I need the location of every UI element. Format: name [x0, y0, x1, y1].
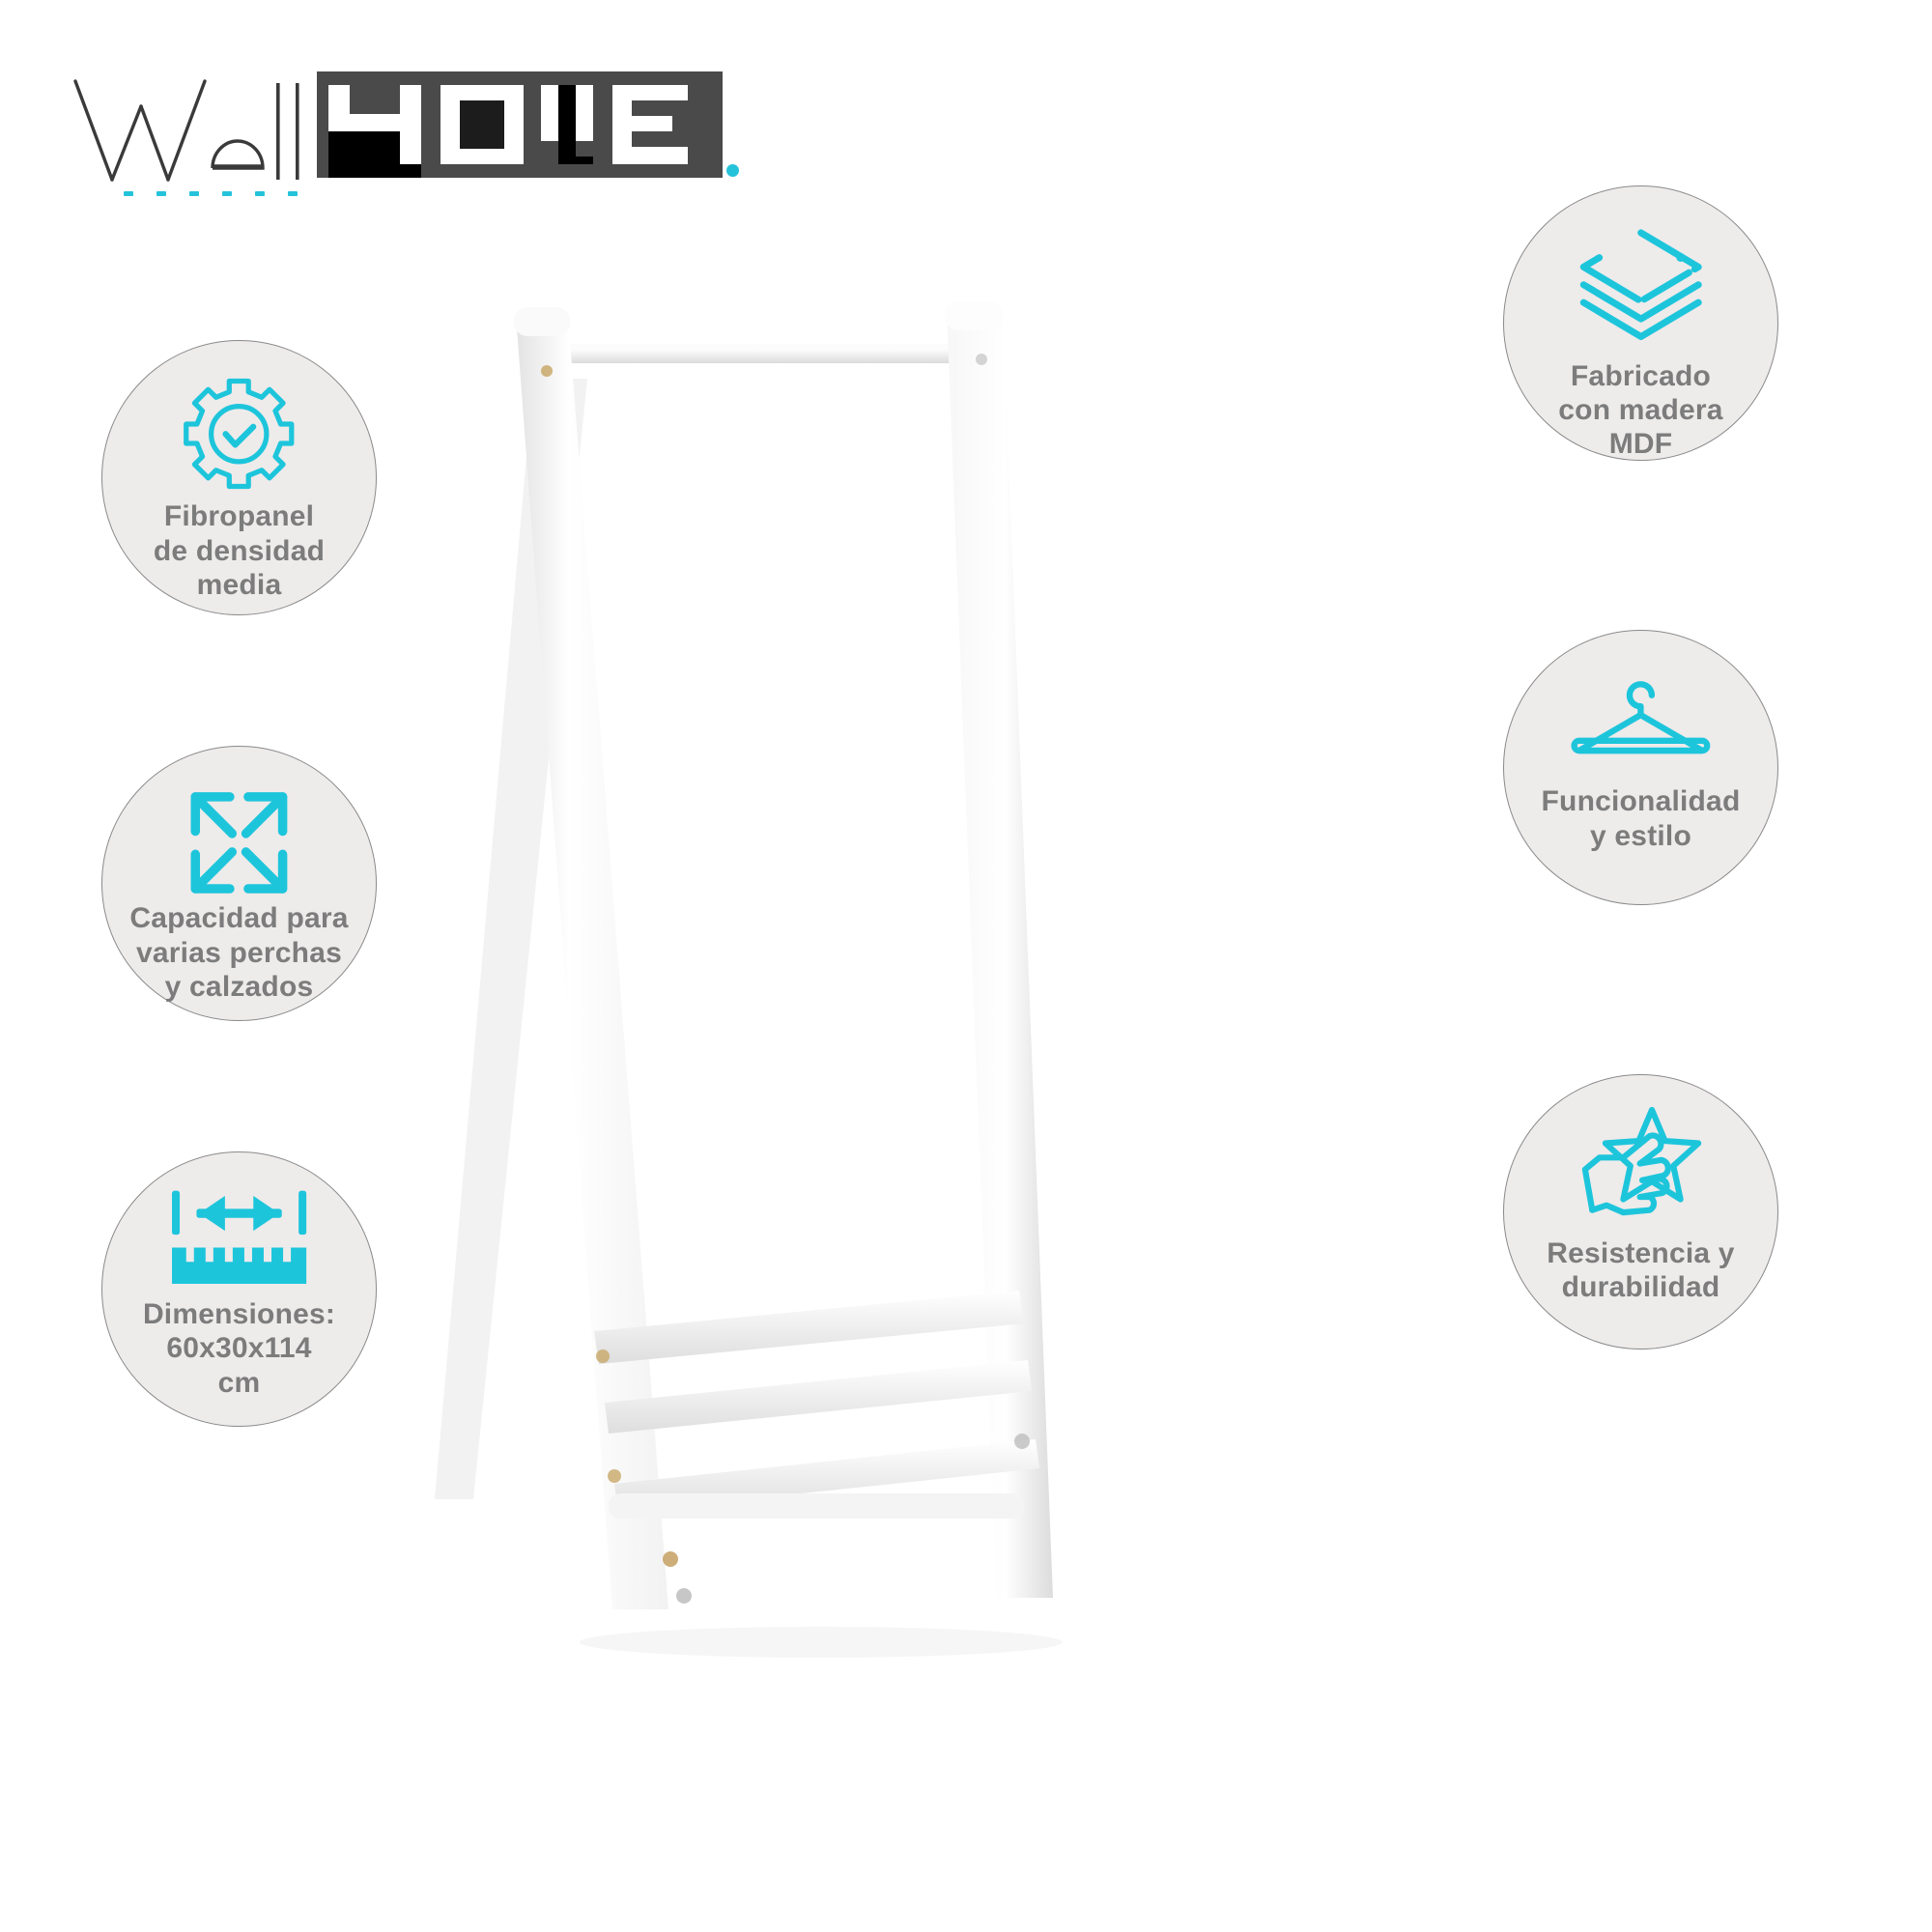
- clothes-hanger-icon: [1567, 669, 1715, 768]
- badge-capacity: Capacidad para varias perchas y calzados: [101, 746, 377, 1021]
- badge-mdf-density: Fibropanel de densidad media: [101, 340, 377, 615]
- hand-star-icon: [1576, 1105, 1707, 1224]
- gear-check-icon: [179, 374, 299, 495]
- badge-dimensions: Dimensiones: 60x30x114 cm: [101, 1151, 377, 1427]
- badge-durability: Resistencia y durabilidad: [1503, 1074, 1778, 1350]
- badge-caption: Dimensiones: 60x30x114 cm: [122, 1297, 356, 1400]
- badge-caption: Funcionalidad y estilo: [1523, 784, 1758, 853]
- logo-dash-accents: [124, 191, 327, 201]
- ruler-measure-icon: [168, 1188, 310, 1292]
- badge-caption: Fibropanel de densidad media: [122, 499, 356, 602]
- badge-caption: Resistencia y durabilidad: [1523, 1236, 1758, 1305]
- layers-stack-icon: [1573, 216, 1710, 354]
- badge-caption: Fabricado con madera MDF: [1523, 359, 1758, 462]
- logo-well-wordmark: [68, 60, 338, 185]
- badge-style: Funcionalidad y estilo: [1503, 630, 1778, 905]
- badge-material: Fabricado con madera MDF: [1503, 185, 1778, 461]
- product-image-clothes-rack: [415, 290, 1111, 1690]
- badge-caption: Capacidad para varias perchas y calzados: [122, 901, 356, 1004]
- brand-logo: [68, 60, 705, 205]
- logo-home-wordmark: [317, 71, 723, 178]
- logo-accent-dot: [726, 164, 739, 177]
- infographic-canvas: Fibropanel de densidad media Capacidad p…: [0, 0, 1932, 1932]
- expand-arrows-icon: [182, 785, 297, 900]
